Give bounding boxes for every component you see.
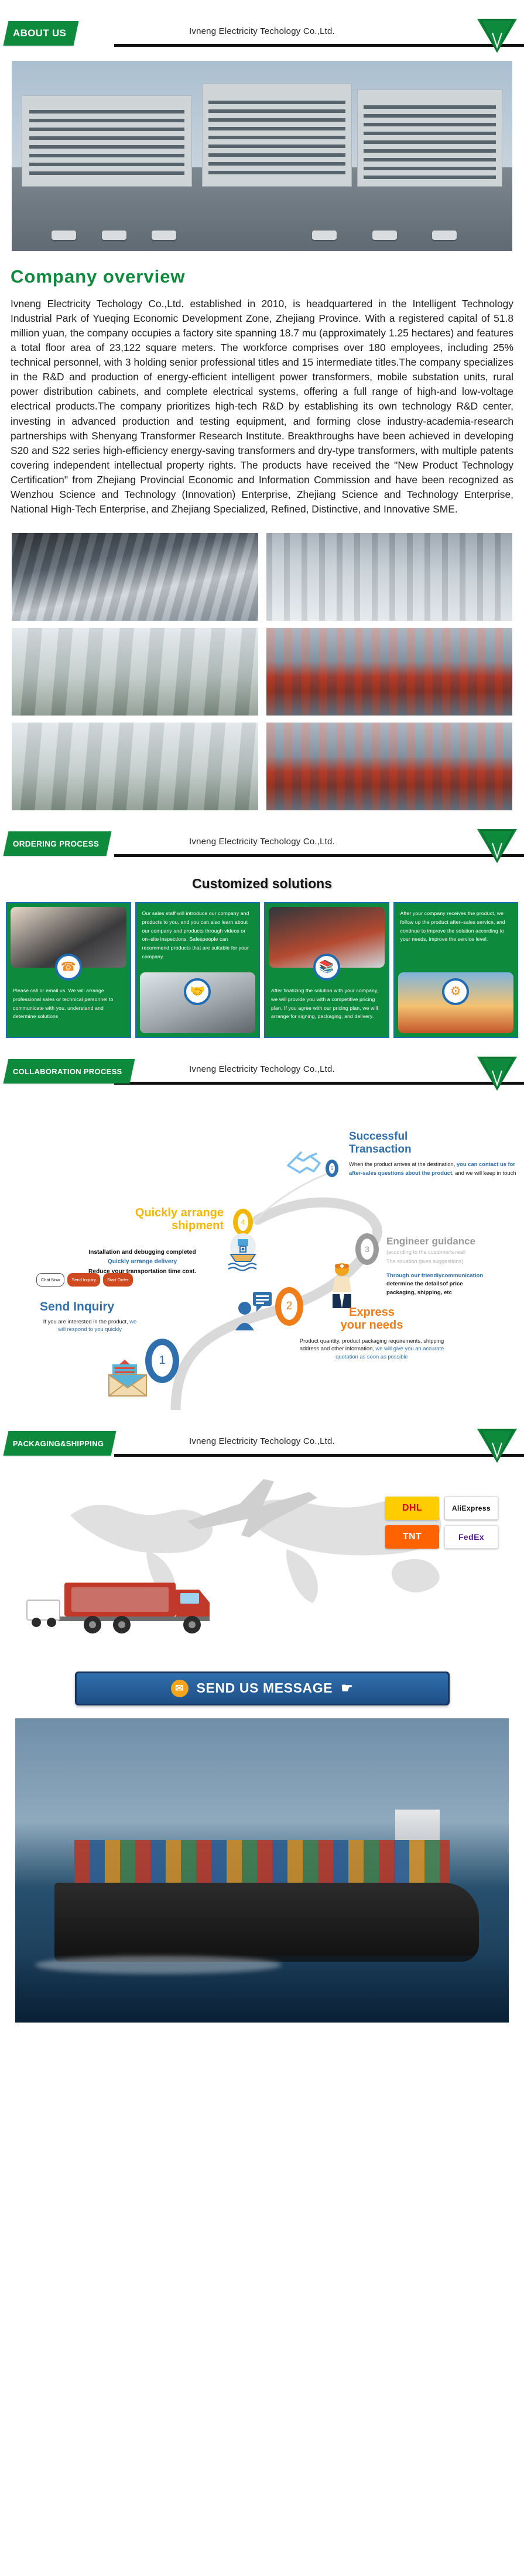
logistics-illustration: DHL AliExpress TNT FedEx <box>0 1466 524 1668</box>
envelope-icon <box>107 1357 149 1398</box>
chevron-down-icon-outline <box>477 1429 517 1463</box>
step-heading: Engineer guidance <box>386 1236 522 1247</box>
workshop-photo-crane <box>12 533 258 621</box>
workshop-photo-assembly <box>266 723 513 810</box>
step-subtext-line1: (according to the customer's reali <box>386 1249 522 1257</box>
section-header-ordering: ORDERING PROCESS Ivneng Electricity Tech… <box>0 821 524 866</box>
factory-photo-grid <box>12 533 512 810</box>
section-tag-about: ABOUT US <box>4 21 79 46</box>
documents-icon: 📚 <box>313 954 340 981</box>
section-header-about: ABOUT US Ivneng Electricity Techology Co… <box>0 11 524 56</box>
envelope-icon: ✉ <box>171 1680 189 1697</box>
collaboration-diagram: 5 Successful Transaction When the produc… <box>0 1094 524 1410</box>
solution-card-text: Our sales staff will introduce our compa… <box>140 907 256 961</box>
ship-wake <box>35 1956 282 1974</box>
section-header-collaboration: COLLABORATION PROCESS Ivneng Electricity… <box>0 1048 524 1094</box>
overview-paragraph: Ivneng Electricity Techology Co.,Ltd. es… <box>11 297 513 517</box>
step-subtext-line2: The situation gives suggestions) <box>386 1258 522 1266</box>
header-rule <box>114 1454 524 1457</box>
solution-card-2: Our sales staff will introduce our compa… <box>135 902 261 1038</box>
chat-now-button[interactable]: Chat Now <box>36 1273 64 1287</box>
step-node-3: 3 <box>355 1233 379 1265</box>
chat-person-icon <box>233 1288 274 1332</box>
step-heading-line2: your needs <box>293 1319 451 1332</box>
workshop-photo-hall <box>266 533 513 621</box>
send-inquiry-button[interactable]: Send Inquiry <box>67 1273 100 1287</box>
step-heading-line2: Transaction <box>349 1143 519 1156</box>
step-heading-line1: Express <box>293 1306 451 1319</box>
start-order-button[interactable]: Start Order <box>103 1273 133 1287</box>
step-successful-transaction: Successful Transaction When the product … <box>349 1130 519 1178</box>
support-icon: ⚙ <box>442 978 469 1005</box>
cargo-ship-photo <box>15 1718 509 2023</box>
step-send-inquiry: Send Inquiry If you are interested in th… <box>39 1300 141 1333</box>
section-header-packaging: PACKAGING&SHIPPING Ivneng Electricity Te… <box>0 1421 524 1466</box>
step-body: Installation and debugging completed Qui… <box>57 1248 227 1277</box>
customized-solutions-title: Customized solutions <box>0 876 524 892</box>
engineer-icon <box>327 1259 357 1309</box>
section-tag-ordering-label: ORDERING PROCESS <box>13 839 99 848</box>
step-quick-shipment: Quickly arrange shipment Installation an… <box>57 1206 227 1277</box>
header-rule <box>114 44 524 47</box>
delivery-truck-icon <box>23 1570 217 1640</box>
section-tag-collaboration: COLLABORATION PROCESS <box>4 1059 135 1084</box>
carrier-logos: DHL AliExpress TNT FedEx <box>385 1497 498 1549</box>
parked-car <box>432 231 457 240</box>
parked-car <box>52 231 76 240</box>
ship-containers <box>74 1840 450 1886</box>
solution-card-3: 📚 After finalizing the solution with you… <box>264 902 389 1038</box>
send-us-message-button[interactable]: ✉ SEND US MESSAGE ☛ <box>75 1672 450 1705</box>
step-body-plain-1: If you are interested in the product, <box>43 1318 129 1325</box>
section-tag-about-label: ABOUT US <box>13 27 66 39</box>
fedex-logo: FedEx <box>444 1525 498 1549</box>
building-right <box>357 90 502 187</box>
solution-card-4: After your company receives the product,… <box>393 902 519 1038</box>
headset-icon: ☎ <box>55 954 82 981</box>
step-node-1: 1 <box>145 1339 179 1383</box>
step-engineer-guidance: Engineer guidance (according to the cust… <box>386 1236 522 1298</box>
aliexpress-logo: AliExpress <box>444 1497 498 1520</box>
airplane-icon <box>176 1472 328 1542</box>
step-heading-line1: Successful <box>349 1130 519 1143</box>
parked-car <box>312 231 337 240</box>
chevron-down-icon-outline <box>477 1057 517 1091</box>
step-body-line1: Installation and debugging completed <box>57 1248 227 1258</box>
section-tag-packaging: PACKAGING&SHIPPING <box>4 1431 117 1456</box>
chevron-down-icon-outline <box>477 829 517 863</box>
header-rule <box>114 854 524 857</box>
dhl-logo: DHL <box>385 1497 439 1520</box>
step-node-5: 5 <box>326 1160 338 1177</box>
step-body-plain-1: When the product arrives at the destinat… <box>349 1161 457 1167</box>
page-root: ABOUT US Ivneng Electricity Techology Co… <box>0 0 524 2038</box>
workshop-photo-cabinets <box>12 628 258 716</box>
solution-card-text: Please call or email us. We will arrange… <box>11 984 126 1021</box>
company-overview-section: Company overview Ivneng Electricity Tech… <box>0 251 524 520</box>
cta-container: ✉ SEND US MESSAGE ☛ <box>0 1672 524 1705</box>
parked-car <box>102 231 126 240</box>
step-body-line3: packaging, shipping, etc <box>386 1289 522 1298</box>
page-title: Company overview <box>11 266 513 287</box>
workshop-photo-floor <box>12 723 258 810</box>
section-tag-packaging-label: PACKAGING&SHIPPING <box>13 1439 104 1447</box>
parked-car <box>152 231 176 240</box>
section-tag-collaboration-label: COLLABORATION PROCESS <box>13 1067 122 1075</box>
building-left <box>22 95 192 187</box>
step-heading-line2: shipment <box>57 1219 227 1232</box>
handshake-icon <box>283 1146 330 1182</box>
chevron-down-icon-outline <box>477 19 517 53</box>
action-chips: Chat Now Send Inquiry Start Order <box>36 1273 133 1287</box>
header-rule <box>114 1082 524 1085</box>
building-center <box>202 84 352 187</box>
step-body: When the product arrives at the destinat… <box>349 1160 519 1177</box>
ship-hull <box>54 1883 479 1962</box>
step-body-plain-2: , and we will keep in touch <box>452 1170 516 1176</box>
parked-car <box>372 231 397 240</box>
pointing-hand-icon: ☛ <box>341 1680 353 1696</box>
step-body: If you are interested in the product, we… <box>39 1318 141 1333</box>
step-express-needs: Express your needs Product quantity, pro… <box>293 1306 451 1360</box>
step-heading-line1: Quickly arrange <box>57 1206 227 1219</box>
section-tag-ordering: ORDERING PROCESS <box>4 831 112 856</box>
solution-card-text: After finalizing the solution with your … <box>269 984 385 1021</box>
step-body-line2: determine the detailsof price <box>386 1280 522 1289</box>
solution-card-1: ☎ Please call or email us. We will arran… <box>6 902 131 1038</box>
step-body: Product quantity, product packaging requ… <box>293 1337 451 1360</box>
factory-building-photo <box>12 61 512 251</box>
handshake-icon: 🤝 <box>184 978 211 1005</box>
step-body-highlight: Through our friendlycommunication <box>386 1272 522 1281</box>
workshop-photo-transformers <box>266 628 513 716</box>
step-heading: Send Inquiry <box>40 1300 141 1315</box>
cargo-ship-icon <box>224 1232 262 1273</box>
solution-card-text: After your company receives the product,… <box>398 907 514 944</box>
tnt-logo: TNT <box>385 1525 439 1549</box>
send-us-message-label: SEND US MESSAGE <box>197 1680 333 1696</box>
brand-name-about: Ivneng Electricity Techology Co.,Ltd. <box>0 26 524 36</box>
step-body-highlight: Quickly arrange delivery <box>57 1257 227 1267</box>
solution-cards: ☎ Please call or email us. We will arran… <box>6 902 518 1038</box>
